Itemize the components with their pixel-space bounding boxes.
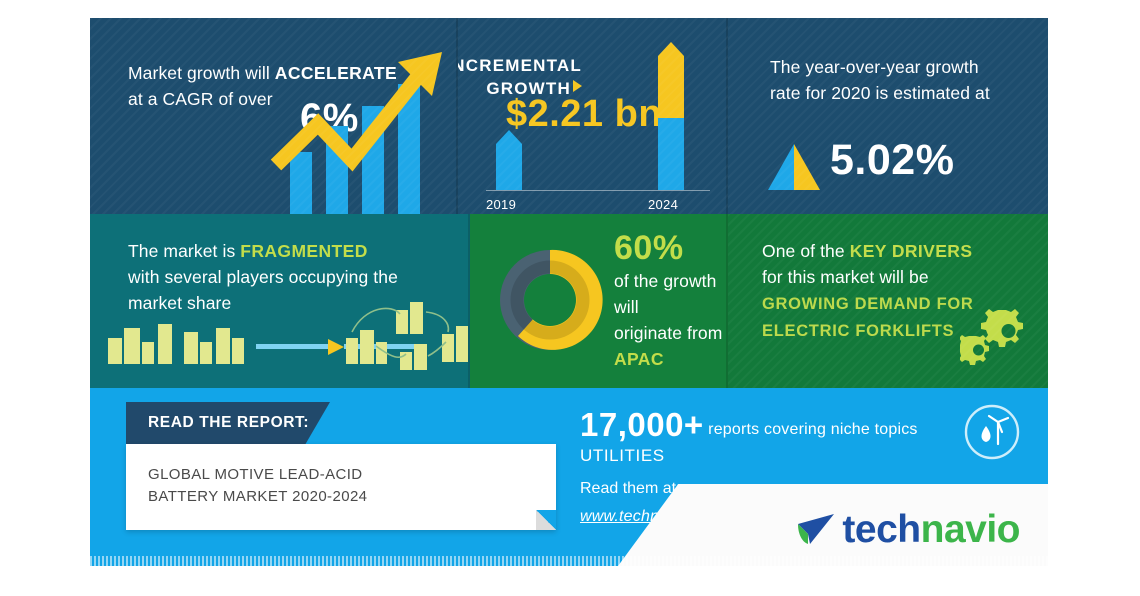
apac-value: 60% [614,228,728,268]
apac-region: APAC [614,349,664,369]
incremental-label-2019: 2019 [486,197,516,212]
bar-2019-stem [496,144,522,190]
logo-word-navio: navio [921,508,1020,552]
incremental-heading-line1: INCREMENTAL [458,56,582,75]
reports-count: 17,000+ [580,406,704,443]
yoy-line1: The year-over-year growth [770,57,979,77]
report-card[interactable]: GLOBAL MOTIVE LEAD-ACID BATTERY MARKET 2… [126,444,556,530]
cagr-line2: at a CAGR of over [128,89,273,109]
cagr-bar-1 [290,152,312,214]
report-title-line1: GLOBAL MOTIVE LEAD-ACID [148,466,363,483]
incremental-label-2024: 2024 [648,197,678,212]
buildings-cluster-right [346,302,468,370]
utilities-wind-turbine-icon [962,402,1022,462]
apac-text: 60% of the growth will originate from AP… [614,228,728,372]
cagr-bar-chart [270,40,458,214]
sector-label: UTILITIES [580,446,1000,466]
technavio-mark-icon [794,510,838,550]
reports-caption: reports covering niche topics [708,421,917,438]
row-footer: READ THE REPORT: GLOBAL MOTIVE LEAD-ACID… [90,388,1048,566]
fragmentation-illustration [100,298,470,372]
donut-hole [524,274,576,326]
drivers-line4: ELECTRIC FORKLIFTS [762,322,954,340]
panel-footer: READ THE REPORT: GLOBAL MOTIVE LEAD-ACID… [90,388,1048,566]
bar-2024-incremental-segment [658,56,684,118]
fragmented-line1-a: The market is [128,241,240,261]
panel-cagr: Market growth will ACCELERATE at a CAGR … [90,18,458,214]
drivers-line1-b: KEY DRIVERS [850,241,973,261]
apac-line2: originate from [614,323,722,343]
transition-arrow [256,339,422,355]
panel-incremental-growth: INCREMENTAL GROWTH $2.21 bn 2019 2024 [458,18,728,214]
panel-key-drivers: One of the KEY DRIVERS for this market w… [728,214,1048,388]
drivers-line1-a: One of the [762,241,850,261]
cagr-chart-svg [270,40,458,214]
bar-2019-head [496,130,522,144]
page-fold-corner [536,510,556,530]
bar-2024-base-segment [658,118,684,190]
incremental-bar-2024 [658,42,684,190]
report-title: GLOBAL MOTIVE LEAD-ACID BATTERY MARKET 2… [148,464,367,508]
yoy-line2: rate for 2020 is estimated at [770,83,990,103]
read-the-report-label: READ THE REPORT: [148,414,309,432]
yoy-text: The year-over-year growth rate for 2020 … [770,54,1020,106]
incremental-bar-2019 [496,130,522,190]
footer-dither-strip [90,556,1048,566]
apac-donut-chart [492,242,608,358]
incremental-axis [486,190,710,191]
gears-icon [960,306,1032,370]
report-title-line2: BATTERY MARKET 2020-2024 [148,488,367,505]
row-middle: The market is FRAGMENTED with several pl… [90,214,1048,388]
drivers-line3: GROWING DEMAND FOR [762,295,974,313]
growth-triangle-icon [766,144,822,190]
logo-word-tech: tech [842,508,920,552]
fragmented-line2: with several players occupying the [128,267,398,287]
drivers-line2: for this market will be [762,267,929,287]
yoy-value: 5.02% [830,136,954,185]
infographic-body: Market growth will ACCELERATE at a CAGR … [90,18,1048,566]
row-top: Market growth will ACCELERATE at a CAGR … [90,18,1048,214]
infographic-canvas: Market growth will ACCELERATE at a CAGR … [0,0,1140,596]
panel-yoy-growth: The year-over-year growth rate for 2020 … [728,18,1048,214]
read-the-report-banner: READ THE REPORT: [126,402,330,444]
panel-fragmented-market: The market is FRAGMENTED with several pl… [90,214,470,388]
panel-apac-share: 60% of the growth will originate from AP… [470,214,728,388]
bar-2024-head [658,42,684,56]
play-triangle-icon [573,80,582,92]
cagr-line1-a: Market growth will [128,63,275,83]
apac-line1: of the growth will [614,271,716,317]
fragmented-line1-b: FRAGMENTED [240,241,367,261]
buildings-cluster-left [108,324,244,364]
technavio-logo: technavio [794,508,1020,552]
